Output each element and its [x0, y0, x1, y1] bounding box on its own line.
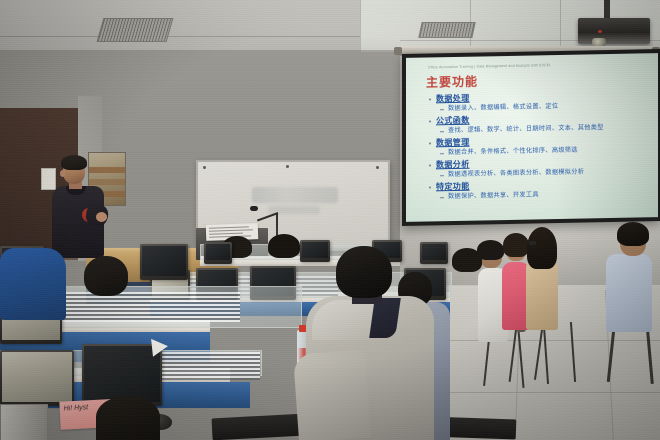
- folded-paper: [151, 337, 169, 357]
- attendee-hair: [527, 227, 557, 269]
- monitor: [204, 242, 232, 264]
- presenter-hand: [96, 212, 107, 222]
- glasses-icon: [529, 241, 536, 245]
- projection-screen: Office Automation Training | Data Manage…: [402, 49, 660, 226]
- monitor: [140, 244, 188, 280]
- attendee-hair: [503, 233, 529, 257]
- door-notice-paper: [41, 168, 56, 190]
- projected-slide: Office Automation Training | Data Manage…: [406, 53, 658, 222]
- attendee-hair: [617, 222, 649, 246]
- slide-title: 主要功能: [426, 73, 478, 91]
- classroom-photo-scene: Office Automation Training | Data Manage…: [0, 0, 660, 440]
- sticky-note-text: Hi! Hyst: [64, 404, 89, 412]
- ceiling-seam: [0, 36, 360, 37]
- monitor: [0, 350, 74, 406]
- slide-section: 公式函数 查找、逻辑、数学、统计、日期时间、文本、其他类型: [428, 111, 652, 136]
- slide-section: 特定功能 数据保护、数据共享、开发工具: [428, 177, 652, 202]
- ceiling-vent: [97, 18, 174, 42]
- student-foreground-left-head: [84, 256, 128, 296]
- foreground-attendee-arm: [293, 350, 371, 440]
- pc-tower: [0, 404, 48, 440]
- screen-roller-cap: [394, 47, 402, 55]
- slide-section: 数据分析 数据透视表分析、各类图表分析、数据模拟分析: [428, 155, 652, 180]
- slide-section: 数据管理 数据合并、条件格式、个性化排序、高级筛选: [428, 133, 652, 158]
- attendee-torso: [606, 254, 652, 332]
- blue-backpack: [0, 248, 66, 320]
- monitor: [300, 240, 330, 262]
- desk-partition-blinds: [150, 352, 260, 380]
- projector-mount: [604, 0, 610, 20]
- student-hair: [452, 248, 482, 272]
- desk-partition-blinds: [60, 292, 240, 322]
- slide-section: 数据处理 数据录入、数据编辑、格式设置、定位: [428, 89, 652, 114]
- presenter-hair: [61, 155, 87, 170]
- foreground-attendee-head: [336, 246, 392, 298]
- student-hair: [268, 234, 300, 258]
- microphone-head-icon: [250, 206, 258, 211]
- slide-header-line: Office Automation Training | Data Manage…: [428, 61, 648, 69]
- projector: [578, 18, 650, 44]
- projector-power-led-icon: [598, 30, 602, 33]
- foreground-head-bottom: [96, 396, 160, 440]
- ceiling-vent: [418, 22, 475, 38]
- monitor: [420, 242, 448, 264]
- whiteboard-erased-writing: [252, 187, 338, 203]
- presenter-ear: [60, 170, 65, 177]
- computer-keyboard: [211, 414, 304, 440]
- slide-body: 数据处理 数据录入、数据编辑、格式设置、定位 公式函数 查找、逻辑、数学、统计、…: [428, 89, 652, 203]
